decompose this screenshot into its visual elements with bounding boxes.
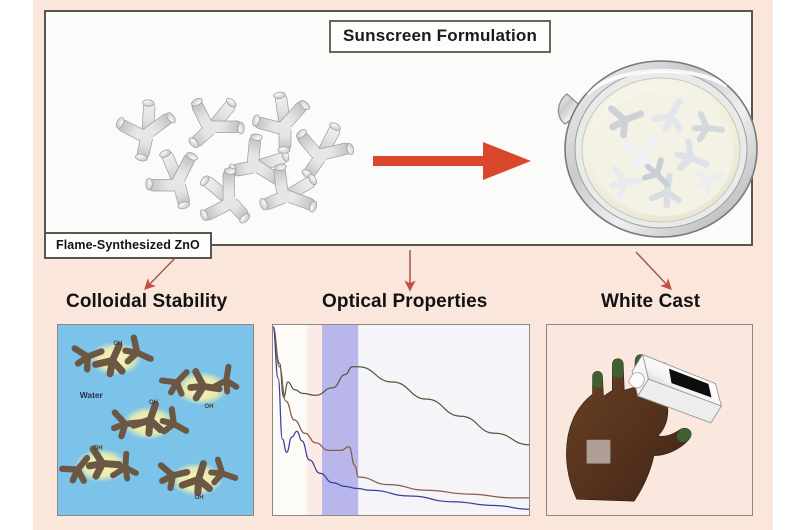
zinc-oxide-tetrapod-particles bbox=[106, 84, 356, 229]
band-uvb bbox=[307, 325, 322, 515]
water-label: Water bbox=[80, 390, 104, 400]
svg-text:OH: OH bbox=[94, 446, 103, 452]
band-visible bbox=[358, 325, 529, 515]
section-heading-optical-properties: Optical Properties bbox=[322, 291, 487, 313]
section-heading-white-cast: White Cast bbox=[601, 291, 700, 313]
material-label-text: Flame-Synthesized ZnO bbox=[56, 238, 200, 252]
process-arrow-icon bbox=[371, 132, 536, 192]
panel-white-cast bbox=[546, 324, 753, 516]
top-panel: Sunscreen Formulation bbox=[44, 10, 753, 246]
material-label-box: Flame-Synthesized ZnO bbox=[44, 232, 212, 259]
panel-optical-properties bbox=[272, 324, 530, 516]
svg-text:OH: OH bbox=[204, 404, 213, 410]
band-uvc bbox=[273, 325, 307, 515]
panel-colloidal-stability: OH OH OH OH OH Water bbox=[57, 324, 254, 516]
section-heading-colloidal-stability: Colloidal Stability bbox=[66, 291, 227, 313]
white-cast-patch bbox=[587, 440, 611, 464]
beaker-with-sunscreen-cream bbox=[551, 54, 766, 244]
page-title-text: Sunscreen Formulation bbox=[343, 26, 537, 46]
svg-text:OH: OH bbox=[195, 495, 204, 501]
graphical-abstract: Sunscreen Formulation Flame-Synthesized … bbox=[0, 0, 800, 530]
svg-text:OH: OH bbox=[113, 341, 122, 347]
chart-wavelength-bands bbox=[273, 325, 529, 515]
page-title: Sunscreen Formulation bbox=[329, 20, 551, 53]
band-uva bbox=[322, 325, 358, 515]
svg-text:OH: OH bbox=[149, 400, 158, 406]
